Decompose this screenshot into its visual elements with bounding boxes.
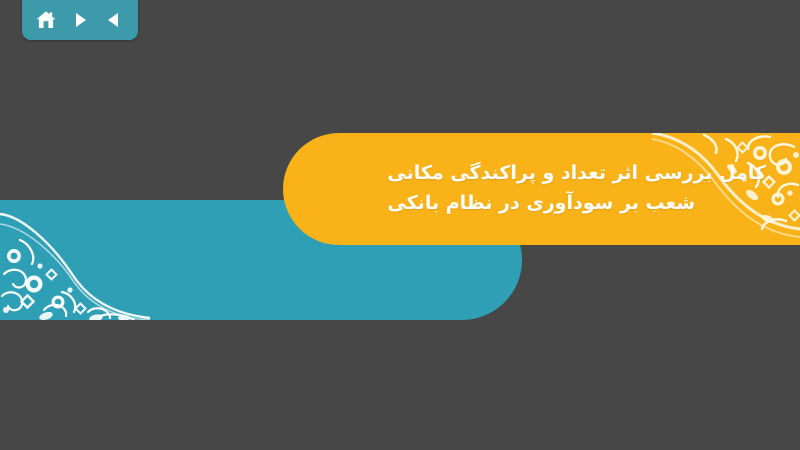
title-banner: کامل بررسی اثر تعداد و پراکندگی مکانی شع… <box>283 133 800 245</box>
forward-icon <box>71 11 89 29</box>
back-button[interactable] <box>100 6 128 34</box>
back-icon <box>105 11 123 29</box>
title-line-1: کامل بررسی اثر تعداد و پراکندگی مکانی <box>387 160 766 188</box>
home-icon <box>35 9 57 31</box>
navigation-bar <box>22 0 138 40</box>
forward-button[interactable] <box>66 6 94 34</box>
arabesque-ornament-mirrored-icon <box>0 200 150 320</box>
home-button[interactable] <box>32 6 60 34</box>
slide-canvas: کامل بررسی اثر تعداد و پراکندگی مکانی شع… <box>0 0 800 450</box>
title-line-2: شعب بر سودآوری در نظام بانکی <box>387 190 695 218</box>
slide-title: کامل بررسی اثر تعداد و پراکندگی مکانی شع… <box>387 133 766 245</box>
